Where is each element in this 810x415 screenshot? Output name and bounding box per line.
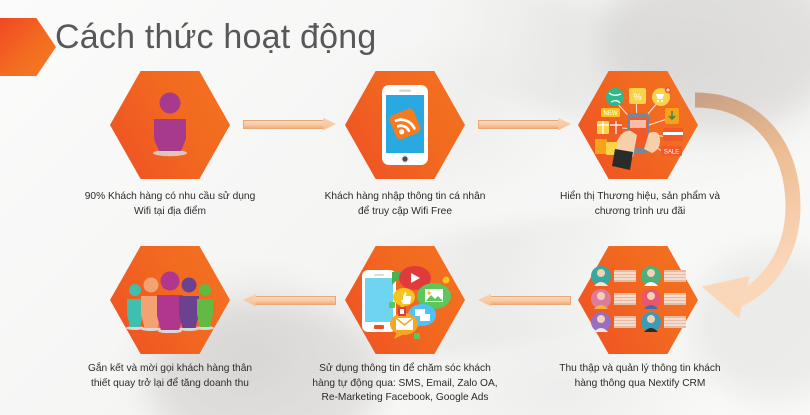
arrow-5-to-6 xyxy=(243,289,336,311)
caption-line: Gắn kết và mời gọi khách hàng thân xyxy=(55,362,285,377)
caption-line: Re-Marketing Facebook, Google Ads xyxy=(290,391,520,406)
caption-line: hàng tự động qua: SMS, Email, Zalo OA, xyxy=(290,377,520,392)
caption-line: chương trình ưu đãi xyxy=(525,205,755,220)
person-icon xyxy=(110,65,230,185)
caption-line: Thu thập và quản lý thông tin khách xyxy=(525,362,755,377)
page-title: Cách thức hoạt động xyxy=(55,18,376,57)
smartphone-wifi-icon xyxy=(345,65,465,185)
badge-sale: SALE xyxy=(664,150,679,156)
caption-line: 90% Khách hàng có nhu cầu sử dụng xyxy=(55,190,285,205)
step-2-node[interactable] xyxy=(345,65,465,185)
step-2-caption: Khách hàng nhập thông tin cá nhân để tru… xyxy=(290,190,520,219)
step-6-node[interactable] xyxy=(110,240,230,360)
orange-accent-tab xyxy=(0,18,56,76)
slide-canvas: Cách thức hoạt động 90% Kh xyxy=(0,0,810,415)
caption-line: Khách hàng nhập thông tin cá nhân xyxy=(290,190,520,205)
arrow-1-to-2 xyxy=(243,113,336,135)
caption-line: hàng thông qua Nextify CRM xyxy=(525,377,755,392)
caption-line: Hiển thị Thương hiệu, sản phẩm và xyxy=(525,190,755,205)
arrow-2-to-3 xyxy=(478,113,571,135)
crm-contact-list-icon xyxy=(578,240,698,360)
arrow-4-to-5 xyxy=(478,289,571,311)
step-5-caption: Sử dụng thông tin để chăm sóc khách hàng… xyxy=(290,362,520,406)
hand-phone-promotions-icon: % NEW xyxy=(578,65,698,185)
caption-line: Sử dụng thông tin để chăm sóc khách xyxy=(290,362,520,377)
step-1-node[interactable] xyxy=(110,65,230,185)
svg-text:%: % xyxy=(633,92,641,102)
step-4-caption: Thu thập và quản lý thông tin khách hàng… xyxy=(525,362,755,391)
people-group-icon xyxy=(110,240,230,360)
caption-line: Wifi tại địa điểm xyxy=(55,205,285,220)
caption-line: để truy cập Wifi Free xyxy=(290,205,520,220)
step-1-caption: 90% Khách hàng có nhu cầu sử dụng Wifi t… xyxy=(55,190,285,219)
caption-line: thiết quay trở lại để tăng doanh thu xyxy=(55,377,285,392)
badge-new: NEW xyxy=(604,111,618,117)
step-4-node[interactable] xyxy=(578,240,698,360)
step-3-caption: Hiển thị Thương hiệu, sản phẩm và chương… xyxy=(525,190,755,219)
step-3-node[interactable]: % NEW xyxy=(578,65,698,185)
smartphone-social-bubbles-icon xyxy=(345,240,465,360)
step-5-node[interactable] xyxy=(345,240,465,360)
step-6-caption: Gắn kết và mời gọi khách hàng thân thiết… xyxy=(55,362,285,391)
